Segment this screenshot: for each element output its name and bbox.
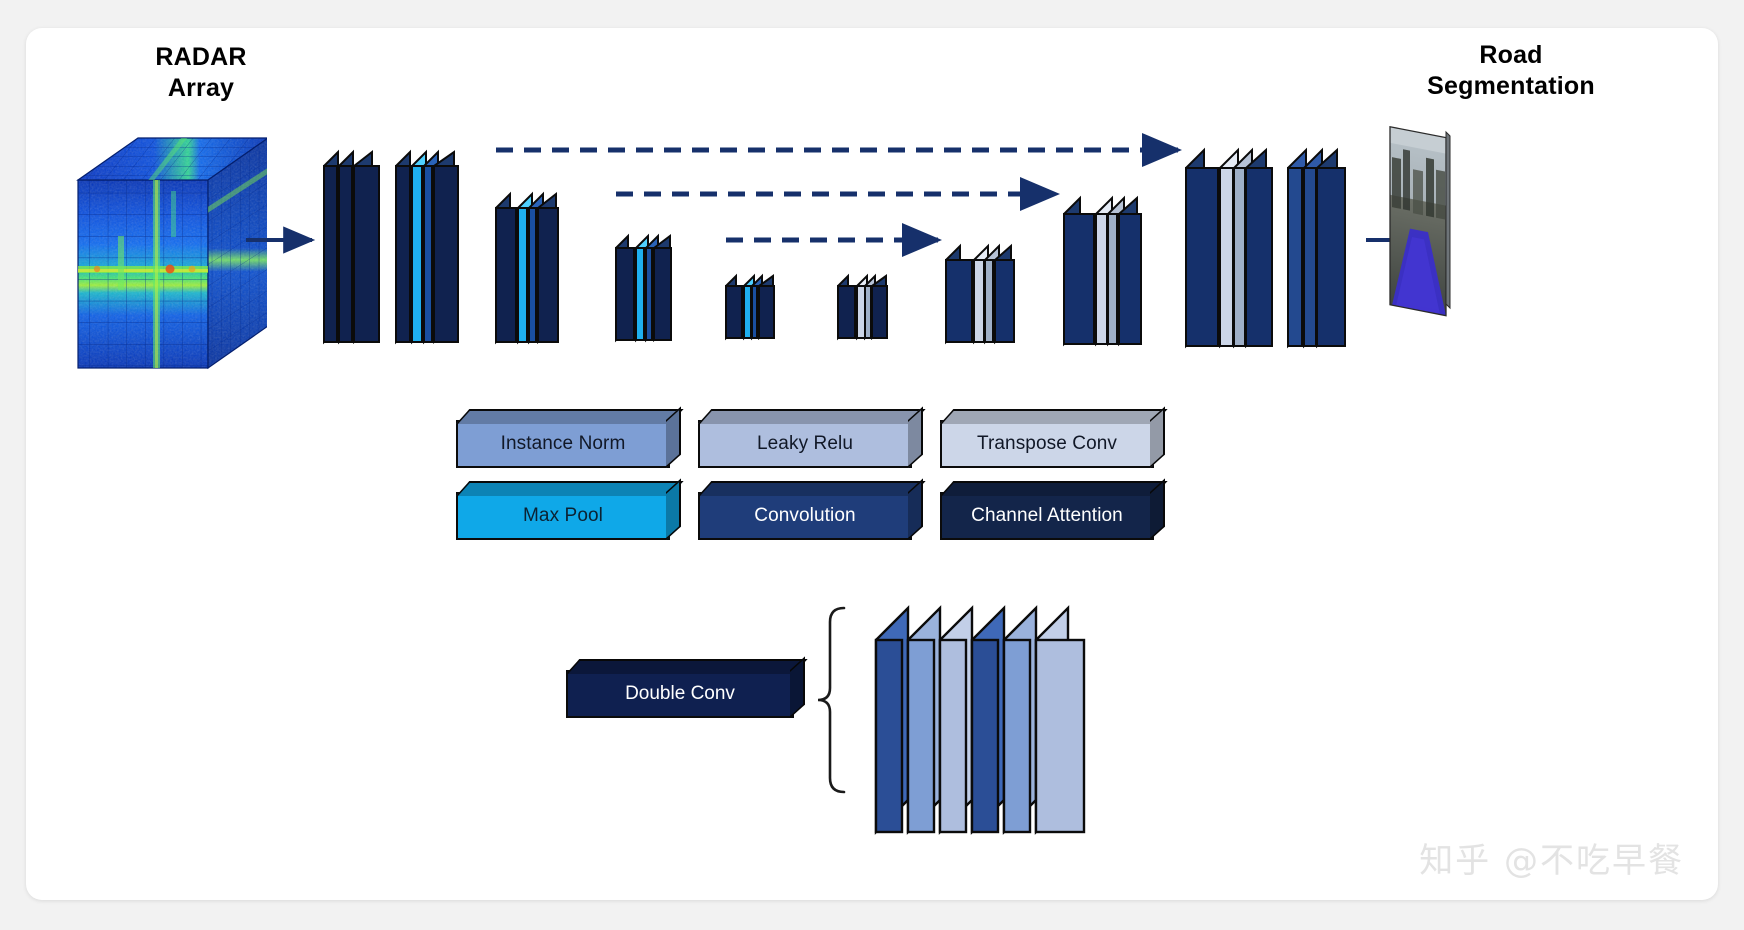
legend-item-transpose-conv[interactable]: Transpose Conv (940, 420, 1154, 468)
watermark: 知乎 @不吃早餐 (1419, 833, 1684, 882)
dec-block-3 (1186, 150, 1345, 346)
legend-label: Channel Attention (971, 505, 1123, 527)
legend-item-leaky-relu[interactable]: Leaky Relu (698, 420, 912, 468)
dec-block-1 (946, 246, 1014, 342)
road-segmentation-image (1386, 126, 1452, 326)
double-conv-slab-4 (972, 608, 1004, 832)
legend-label: Convolution (754, 505, 855, 527)
bottleneck-block (838, 276, 887, 338)
legend-label: Transpose Conv (977, 433, 1117, 455)
legend-item-convolution[interactable]: Convolution (698, 492, 912, 540)
double-conv-slab-1 (876, 608, 908, 832)
legend-item-channel-attention[interactable]: Channel Attention (940, 492, 1154, 540)
network-diagram (26, 28, 1718, 428)
double-conv-slab-2 (908, 608, 940, 832)
double-conv-slab-3 (940, 608, 972, 832)
legend-row-2: Max Pool Convolution Channel Attention (456, 492, 1156, 550)
enc-block-4 (726, 276, 774, 338)
legend-row-1: Instance Norm Leaky Relu Transpose Conv (456, 420, 1156, 478)
double-conv-expansion (456, 588, 1176, 848)
figure-card: RADAR Array Road Segmentation (26, 28, 1718, 900)
enc-block-2 (496, 194, 558, 342)
dec-block-2 (1064, 198, 1141, 344)
double-conv-label: Double Conv (625, 683, 735, 705)
legend-label: Leaky Relu (757, 433, 853, 455)
legend-label: Max Pool (523, 505, 603, 527)
legend: Instance Norm Leaky Relu Transpose Conv … (456, 420, 1156, 560)
curly-brace (818, 608, 844, 792)
figure-root: RADAR Array Road Segmentation (0, 0, 1744, 930)
double-conv-slab-5 (1004, 608, 1036, 832)
double-conv-section: Double Conv (456, 588, 1176, 848)
legend-item-max-pool[interactable]: Max Pool (456, 492, 670, 540)
enc-block-3 (616, 236, 671, 340)
enc-block-1 (324, 152, 458, 342)
double-conv-slab-6 (1036, 608, 1084, 832)
legend-item-instance-norm[interactable]: Instance Norm (456, 420, 670, 468)
legend-label: Instance Norm (501, 433, 626, 455)
